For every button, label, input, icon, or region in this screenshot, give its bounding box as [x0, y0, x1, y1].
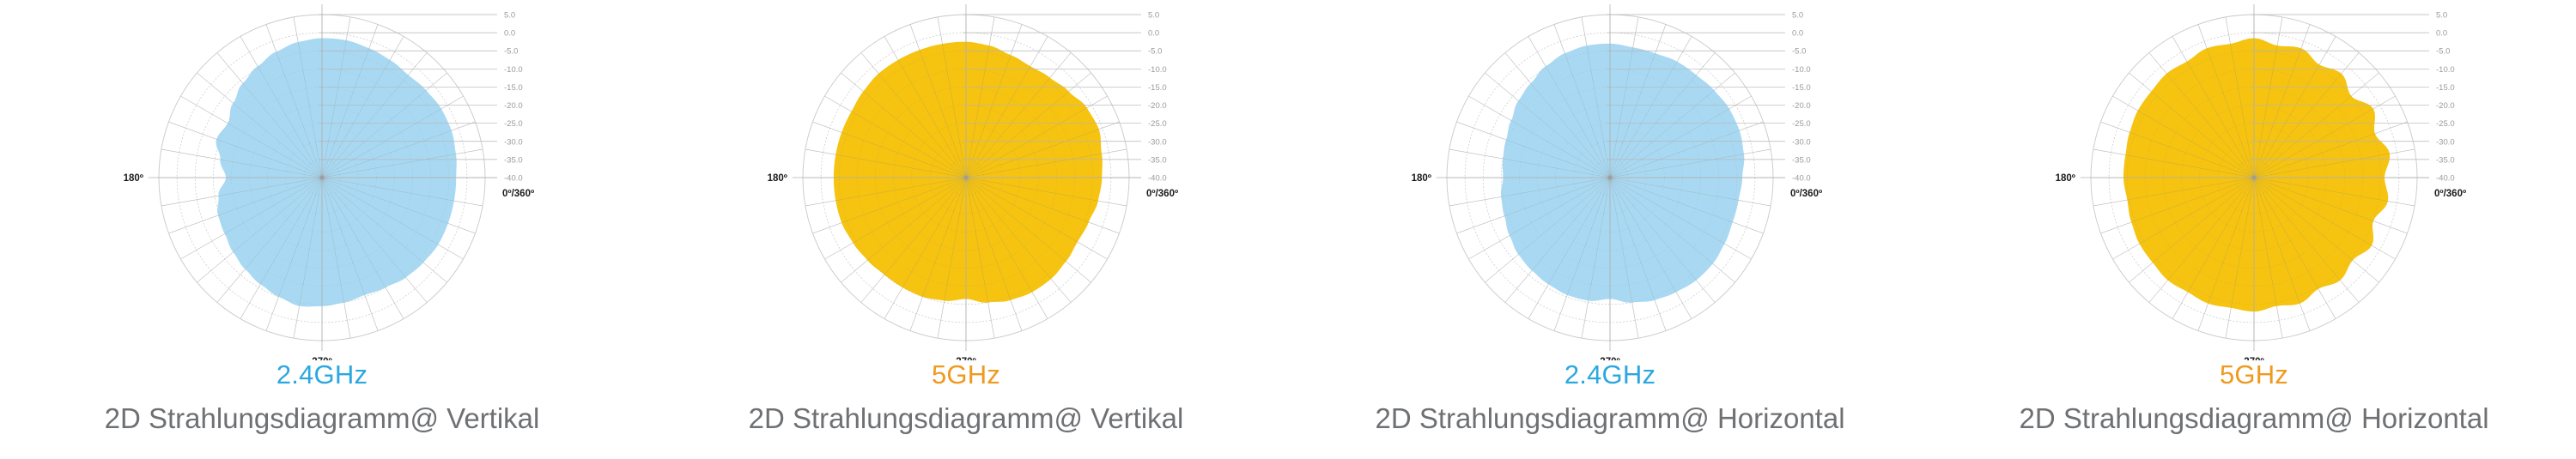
panel-2: 5.00.0-5.0-10.0-15.0-20.0-25.0-30.0-35.0… [644, 0, 1288, 459]
angle-label-180: 180º [1412, 173, 1431, 184]
radial-tick-label: -20.0 [504, 101, 523, 111]
polar-plot-3: 5.00.0-5.0-10.0-15.0-20.0-25.0-30.0-35.0… [1288, 0, 1932, 360]
radial-tick-label: -5.0 [1148, 47, 1162, 57]
radial-tick-label: -25.0 [1148, 119, 1167, 129]
radial-tick-label: -20.0 [1792, 101, 1811, 111]
radial-tick-label: -25.0 [504, 119, 523, 129]
radial-tick-label: -25.0 [2436, 119, 2455, 129]
angle-label-90: 90º [315, 0, 330, 2]
polar-plot-1: 5.00.0-5.0-10.0-15.0-20.0-25.0-30.0-35.0… [0, 0, 644, 360]
polar-origin-marker [319, 175, 324, 179]
radial-tick-label: 0.0 [504, 29, 515, 39]
radiation-pattern-strip: 5.00.0-5.0-10.0-15.0-20.0-25.0-30.0-35.0… [0, 0, 2576, 459]
angle-label-180: 180º [124, 173, 143, 184]
radial-tick-label: -30.0 [1148, 137, 1167, 147]
polar-axes: 5.00.0-5.0-10.0-15.0-20.0-25.0-30.0-35.0… [644, 0, 1288, 360]
polar-axes: 5.00.0-5.0-10.0-15.0-20.0-25.0-30.0-35.0… [1932, 0, 2576, 360]
polar-origin-marker [1607, 175, 1612, 179]
caption-4: 2D Strahlungsdiagramm@ Horizontal [1932, 402, 2576, 436]
radial-tick-label: -15.0 [2436, 83, 2455, 93]
radial-tick-label: 5.0 [504, 11, 515, 21]
radial-tick-label: -40.0 [1792, 174, 1811, 184]
radiation-pattern-area [2123, 38, 2390, 311]
angle-label-90: 90º [1603, 0, 1618, 2]
radial-tick-label: -20.0 [2436, 101, 2455, 111]
radial-tick-label: -20.0 [1148, 101, 1167, 111]
polar-origin-marker [2251, 175, 2256, 179]
caption-2: 2D Strahlungsdiagramm@ Vertikal [644, 402, 1288, 436]
angle-label-0-360: 0º/360º [1790, 189, 1822, 199]
radial-tick-label: 0.0 [1792, 29, 1803, 39]
panel-4: 5.00.0-5.0-10.0-15.0-20.0-25.0-30.0-35.0… [1932, 0, 2576, 459]
radial-tick-label: -25.0 [1792, 119, 1811, 129]
radial-tick-label: 5.0 [1148, 11, 1159, 21]
polar-axes: 5.00.0-5.0-10.0-15.0-20.0-25.0-30.0-35.0… [1288, 0, 1932, 360]
radial-tick-label: -15.0 [1792, 83, 1811, 93]
radial-tick-label: -10.0 [2436, 65, 2455, 75]
panel-3: 5.00.0-5.0-10.0-15.0-20.0-25.0-30.0-35.0… [1288, 0, 1932, 459]
radial-tick-label: -10.0 [1792, 65, 1811, 75]
radial-tick-label: -30.0 [2436, 137, 2455, 147]
angle-label-0-360: 0º/360º [2434, 189, 2466, 199]
radial-tick-label: 0.0 [2436, 29, 2447, 39]
angle-label-180: 180º [768, 173, 787, 184]
angle-label-90: 90º [959, 0, 974, 2]
radial-tick-label: 5.0 [2436, 11, 2447, 21]
radial-tick-label: -10.0 [1148, 65, 1167, 75]
radial-tick-label: -40.0 [504, 174, 523, 184]
radial-tick-label: -35.0 [504, 155, 523, 165]
radial-tick-label: -15.0 [504, 83, 523, 93]
radial-tick-label: -35.0 [1148, 155, 1167, 165]
radial-tick-label: -5.0 [1792, 47, 1806, 57]
radial-tick-label: -30.0 [1792, 137, 1811, 147]
frequency-label-1: 2.4GHz [0, 359, 644, 391]
radial-tick-label: 0.0 [1148, 29, 1159, 39]
angle-label-180: 180º [2056, 173, 2075, 184]
radial-tick-label: -15.0 [1148, 83, 1167, 93]
frequency-label-4: 5GHz [1932, 359, 2576, 391]
frequency-label-2: 5GHz [644, 359, 1288, 391]
angle-label-90: 90º [2247, 0, 2262, 2]
radial-tick-label: -35.0 [1792, 155, 1811, 165]
polar-plot-4: 5.00.0-5.0-10.0-15.0-20.0-25.0-30.0-35.0… [1932, 0, 2576, 360]
polar-plot-2: 5.00.0-5.0-10.0-15.0-20.0-25.0-30.0-35.0… [644, 0, 1288, 360]
radial-tick-label: 5.0 [1792, 11, 1803, 21]
frequency-label-3: 2.4GHz [1288, 359, 1932, 391]
radial-tick-label: -30.0 [504, 137, 523, 147]
radial-tick-label: -40.0 [2436, 174, 2455, 184]
polar-origin-marker [963, 175, 968, 179]
polar-axes: 5.00.0-5.0-10.0-15.0-20.0-25.0-30.0-35.0… [0, 0, 644, 360]
angle-label-0-360: 0º/360º [502, 189, 534, 199]
caption-1: 2D Strahlungsdiagramm@ Vertikal [0, 402, 644, 436]
radial-tick-label: -5.0 [504, 47, 518, 57]
panel-1: 5.00.0-5.0-10.0-15.0-20.0-25.0-30.0-35.0… [0, 0, 644, 459]
radial-tick-label: -40.0 [1148, 174, 1167, 184]
angle-label-0-360: 0º/360º [1146, 189, 1178, 199]
radial-tick-label: -35.0 [2436, 155, 2455, 165]
radial-tick-label: -10.0 [504, 65, 523, 75]
radial-tick-label: -5.0 [2436, 47, 2450, 57]
caption-3: 2D Strahlungsdiagramm@ Horizontal [1288, 402, 1932, 436]
